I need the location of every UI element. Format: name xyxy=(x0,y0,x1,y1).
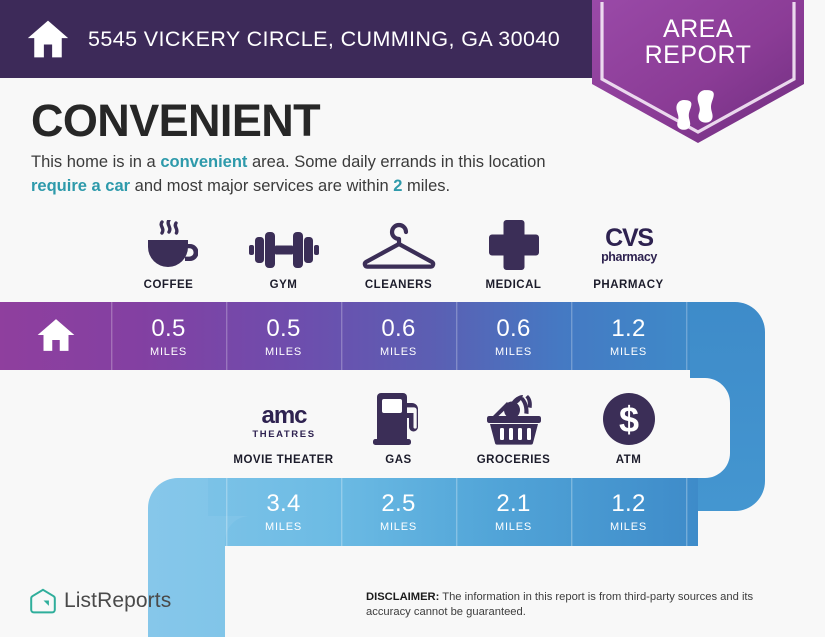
disclaimer: DISCLAIMER: The information in this repo… xyxy=(366,590,796,621)
distance-cell: 3.4 MILES xyxy=(226,478,341,546)
amenity-gas: GAS xyxy=(341,393,456,466)
badge-line-2: REPORT xyxy=(592,42,804,68)
distance-unit: MILES xyxy=(495,346,532,358)
distance-cell: 0.6 MILES xyxy=(341,303,456,371)
svg-text:$: $ xyxy=(618,399,638,440)
distance-unit: MILES xyxy=(380,346,417,358)
distance-unit: MILES xyxy=(265,521,302,533)
amenity-icons-row-1: COFFEE GYM xyxy=(111,218,686,291)
distance-value: 1.2 xyxy=(611,492,645,516)
amenity-label: MOVIE THEATER xyxy=(233,454,333,466)
distance-value: 3.4 xyxy=(266,492,300,516)
disclaimer-label: DISCLAIMER: xyxy=(366,591,439,603)
listreports-logo-icon xyxy=(30,588,56,614)
amenity-atm: $ ATM xyxy=(571,393,686,466)
summary-part-2: area. Some daily errands in this locatio… xyxy=(247,153,545,171)
amenity-label: GYM xyxy=(270,279,298,291)
amenity-label: COFFEE xyxy=(144,279,194,291)
distance-cell: 0.5 MILES xyxy=(111,303,226,371)
header-bar: 5545 VICKERY CIRCLE, CUMMING, GA 30040 xyxy=(0,0,592,78)
amenity-label: MEDICAL xyxy=(486,279,542,291)
amc-theatres-logo-icon: amc THEATRES xyxy=(241,393,327,445)
amenity-movie-theater: amc THEATRES MOVIE THEATER xyxy=(226,393,341,466)
amenity-label: CLEANERS xyxy=(365,279,432,291)
grocery-basket-icon xyxy=(484,393,544,445)
distance-value: 0.5 xyxy=(151,317,185,341)
distance-value: 0.6 xyxy=(496,317,530,341)
distance-cell: 2.5 MILES xyxy=(341,478,456,546)
amenity-label: PHARMACY xyxy=(593,279,663,291)
medical-cross-icon xyxy=(489,218,539,270)
distances-row-2: 3.4 MILES 2.5 MILES 2.1 MILES 1.2 MILES xyxy=(226,478,686,546)
distance-cell: 1.2 MILES xyxy=(571,478,686,546)
amenity-pharmacy: CVS pharmacy PHARMACY xyxy=(571,218,686,291)
distance-unit: MILES xyxy=(265,346,302,358)
badge-line-1: AREA xyxy=(592,16,804,42)
distance-cell: 0.6 MILES xyxy=(456,303,571,371)
gas-pump-icon xyxy=(373,393,425,445)
distance-unit: MILES xyxy=(610,346,647,358)
summary-part-3: and most major services are within xyxy=(130,177,393,195)
dollar-circle-icon: $ xyxy=(603,393,655,445)
distance-value: 2.1 xyxy=(496,492,530,516)
distance-unit: MILES xyxy=(610,521,647,533)
svg-text:THEATRES: THEATRES xyxy=(252,429,315,440)
distances-row-1: 0.5 MILES 0.5 MILES 0.6 MILES 0.6 MILES … xyxy=(111,303,686,371)
distance-unit: MILES xyxy=(380,521,417,533)
distance-unit: MILES xyxy=(495,521,532,533)
distance-value: 0.5 xyxy=(266,317,300,341)
distance-cell: 2.1 MILES xyxy=(456,478,571,546)
page-title: CONVENIENT xyxy=(31,95,320,147)
ribbon-home-icon xyxy=(36,315,76,355)
amenity-coffee: COFFEE xyxy=(111,218,226,291)
svg-text:CVS: CVS xyxy=(605,224,653,252)
cvs-pharmacy-logo-icon: CVS pharmacy xyxy=(590,218,668,270)
summary-text: This home is in a convenient area. Some … xyxy=(31,150,571,199)
brand-name: ListReports xyxy=(64,589,171,613)
distance-cell: 1.2 MILES xyxy=(571,303,686,371)
coffee-cup-icon xyxy=(140,218,198,270)
summary-part-1: This home is in a xyxy=(31,153,160,171)
svg-text:amc: amc xyxy=(261,402,307,429)
summary-highlight-convenient: convenient xyxy=(160,153,247,171)
distance-unit: MILES xyxy=(150,346,187,358)
amenity-label: GAS xyxy=(385,454,411,466)
amenity-label: ATM xyxy=(616,454,642,466)
amenity-cleaners: CLEANERS xyxy=(341,218,456,291)
distance-value: 0.6 xyxy=(381,317,415,341)
area-report-badge: AREA REPORT xyxy=(592,0,804,143)
amenity-gym: GYM xyxy=(226,218,341,291)
property-address: 5545 VICKERY CIRCLE, CUMMING, GA 30040 xyxy=(88,27,560,52)
summary-highlight-require-a-car: require a car xyxy=(31,177,130,195)
svg-text:pharmacy: pharmacy xyxy=(601,250,657,264)
badge-title: AREA REPORT xyxy=(592,16,804,68)
clothes-hanger-icon xyxy=(360,218,438,270)
dumbbell-icon xyxy=(249,218,319,270)
area-report-infographic: 5545 VICKERY CIRCLE, CUMMING, GA 30040 A… xyxy=(0,0,825,637)
distance-value: 1.2 xyxy=(611,317,645,341)
summary-part-4: miles. xyxy=(402,177,450,195)
amenity-label: GROCERIES xyxy=(477,454,551,466)
brand-logo: ListReports xyxy=(30,588,171,614)
distance-value: 2.5 xyxy=(381,492,415,516)
amenity-icons-row-2: amc THEATRES MOVIE THEATER GAS xyxy=(226,393,686,466)
amenity-groceries: GROCERIES xyxy=(456,393,571,466)
amenity-medical: MEDICAL xyxy=(456,218,571,291)
distance-cell: 0.5 MILES xyxy=(226,303,341,371)
home-icon xyxy=(26,17,70,61)
